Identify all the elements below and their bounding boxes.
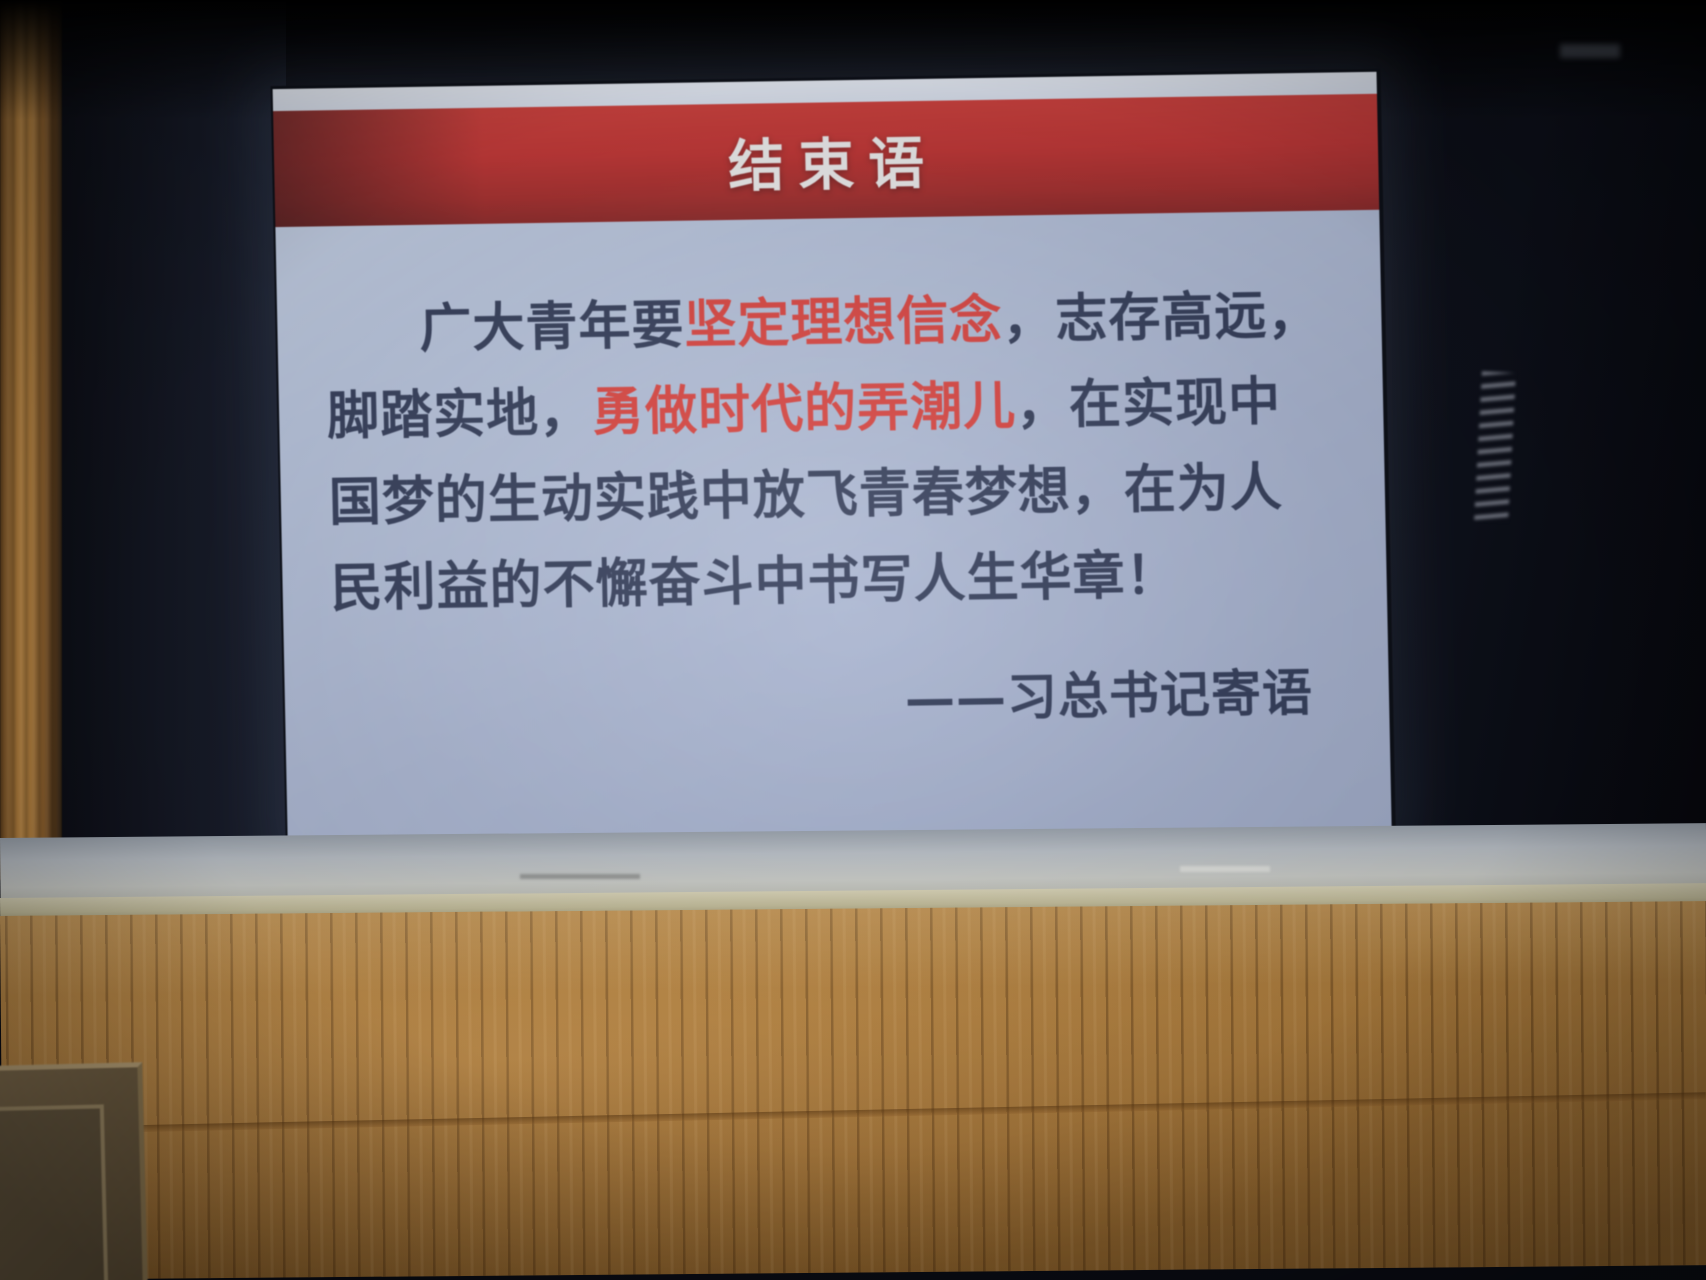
line1-plain-a: 广大青年要: [419, 296, 685, 360]
slide-body-line-4: 民利益的不懈奋斗中书写人生华章！: [330, 531, 1334, 633]
ledge-scuff-mark: [1180, 866, 1270, 872]
ceiling-light-speck-icon: [1560, 44, 1620, 58]
slide-title: 结束语: [713, 118, 939, 203]
wall-left-dark: [56, 0, 286, 880]
line1-highlight: 坚定理想信念: [684, 291, 1003, 356]
slide-paragraph: 广大青年要坚定理想信念，志存高远， 脚踏实地，勇做时代的弄潮儿，在实现中 国梦的…: [325, 273, 1334, 633]
line2-plain-a: 脚踏实地，: [327, 383, 593, 447]
wood-paneling-wall: [0, 901, 1706, 1280]
wood-recessed-panel-inner: [0, 1104, 108, 1280]
curtain-left-wood: [0, 0, 62, 880]
projection-screen: 结束语 广大青年要坚定理想信念，志存高远， 脚踏实地，勇做时代的弄潮儿，在实现中…: [271, 69, 1396, 856]
ledge-scuff-mark: [520, 874, 640, 879]
photo-scene: 结束语 广大青年要坚定理想信念，志存高远， 脚踏实地，勇做时代的弄潮儿，在实现中…: [0, 0, 1706, 1280]
line2-plain-b: ，在实现中: [1016, 372, 1282, 436]
slide-body-line-2: 脚踏实地，勇做时代的弄潮儿，在实现中: [326, 359, 1330, 461]
presentation-slide: 结束语 广大青年要坚定理想信念，志存高远， 脚踏实地，勇做时代的弄潮儿，在实现中…: [273, 72, 1392, 852]
wall-right-dark: [1392, 0, 1706, 880]
slide-body-line-3: 国梦的生动实践中放飞青春梦想，在为人: [328, 445, 1332, 547]
slide-attribution: ——习总书记寄语: [332, 653, 1335, 741]
line2-highlight: 勇做时代的弄潮儿: [592, 376, 1017, 443]
line1-plain-b: ，志存高远，: [1002, 286, 1321, 351]
slide-body: 广大青年要坚定理想信念，志存高远， 脚踏实地，勇做时代的弄潮儿，在实现中 国梦的…: [275, 210, 1391, 852]
slide-title-banner: 结束语: [273, 94, 1379, 227]
slide-body-line-1: 广大青年要坚定理想信念，志存高远，: [325, 273, 1329, 375]
